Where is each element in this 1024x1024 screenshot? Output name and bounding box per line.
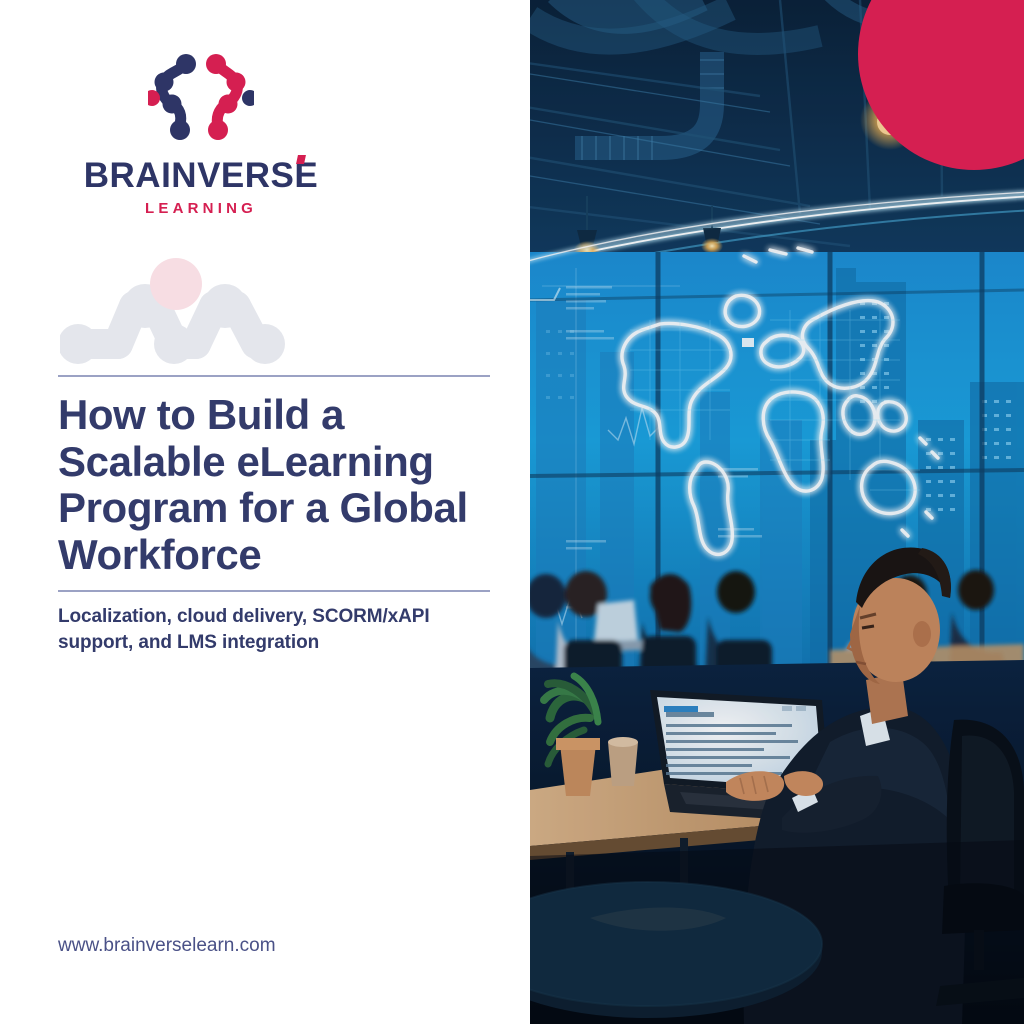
page-title: How to Build a Scalable eLearning Progra… bbox=[58, 392, 498, 578]
wordmark-subtext: LEARNING bbox=[56, 200, 346, 217]
poster-canvas: BRAINVERSE LEARNING How to B bbox=[0, 0, 1024, 1024]
wordmark-text: BRAINVERSE bbox=[84, 156, 318, 195]
divider-top bbox=[58, 375, 490, 377]
brand-wordmark: BRAINVERSE LEARNING bbox=[56, 158, 346, 217]
website-url[interactable]: www.brainverselearn.com bbox=[58, 935, 276, 957]
pink-dot-decoration bbox=[150, 258, 202, 310]
divider-middle bbox=[58, 590, 490, 592]
molecule-node-logo-icon bbox=[148, 52, 254, 144]
page-subtitle: Localization, cloud delivery, SCORM/xAPI… bbox=[58, 604, 498, 656]
molecule-chain-decoration bbox=[60, 248, 290, 366]
brand-logo[interactable]: BRAINVERSE LEARNING bbox=[56, 52, 346, 217]
